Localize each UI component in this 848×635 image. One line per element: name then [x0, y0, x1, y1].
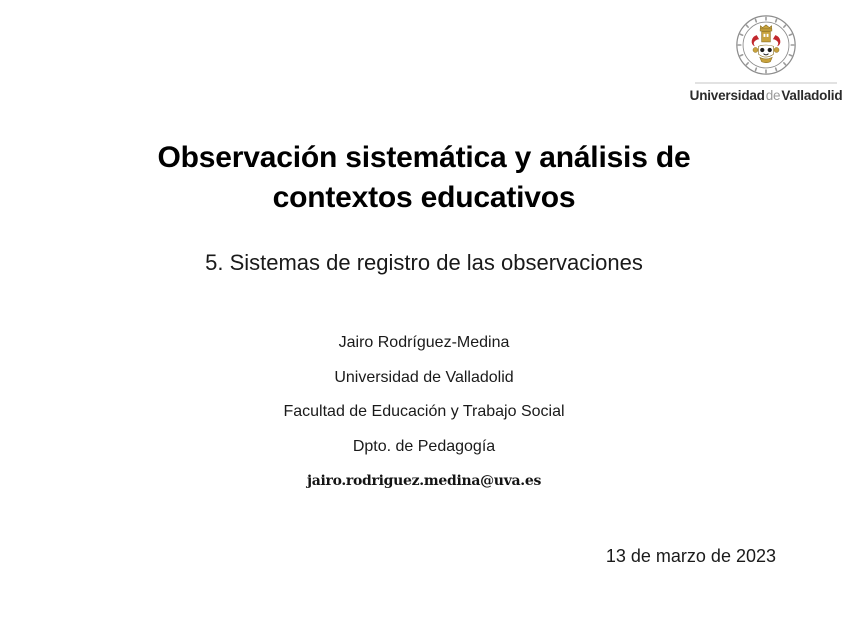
- title-line-2: contextos educativos: [60, 178, 788, 218]
- author-block: Jairo Rodríguez-Medina Universidad de Va…: [60, 326, 788, 498]
- uva-crest-icon: [735, 14, 797, 76]
- university-wordmark: UniversidaddeValladolid: [690, 89, 843, 103]
- title-slide: UniversidaddeValladolid Observación sist…: [0, 0, 848, 635]
- university-logo: UniversidaddeValladolid: [690, 14, 842, 103]
- author-name: Jairo Rodríguez-Medina: [60, 326, 788, 361]
- author-email[interactable]: jairo.rodriguez.medina@uva.es: [60, 464, 788, 498]
- wordmark-universidad: Universidad: [690, 88, 765, 103]
- author-department: Dpto. de Pedagogía: [60, 430, 788, 465]
- page-subtitle: 5. Sistemas de registro de las observaci…: [60, 250, 788, 276]
- logo-divider: [695, 82, 837, 84]
- page-title: Observación sistemática y análisis de co…: [60, 138, 788, 217]
- presentation-date: 13 de marzo de 2023: [606, 546, 776, 567]
- author-university: Universidad de Valladolid: [60, 361, 788, 396]
- wordmark-de: de: [765, 88, 782, 103]
- wordmark-valladolid: Valladolid: [781, 88, 842, 103]
- author-faculty: Facultad de Educación y Trabajo Social: [60, 395, 788, 430]
- title-line-1: Observación sistemática y análisis de: [60, 138, 788, 178]
